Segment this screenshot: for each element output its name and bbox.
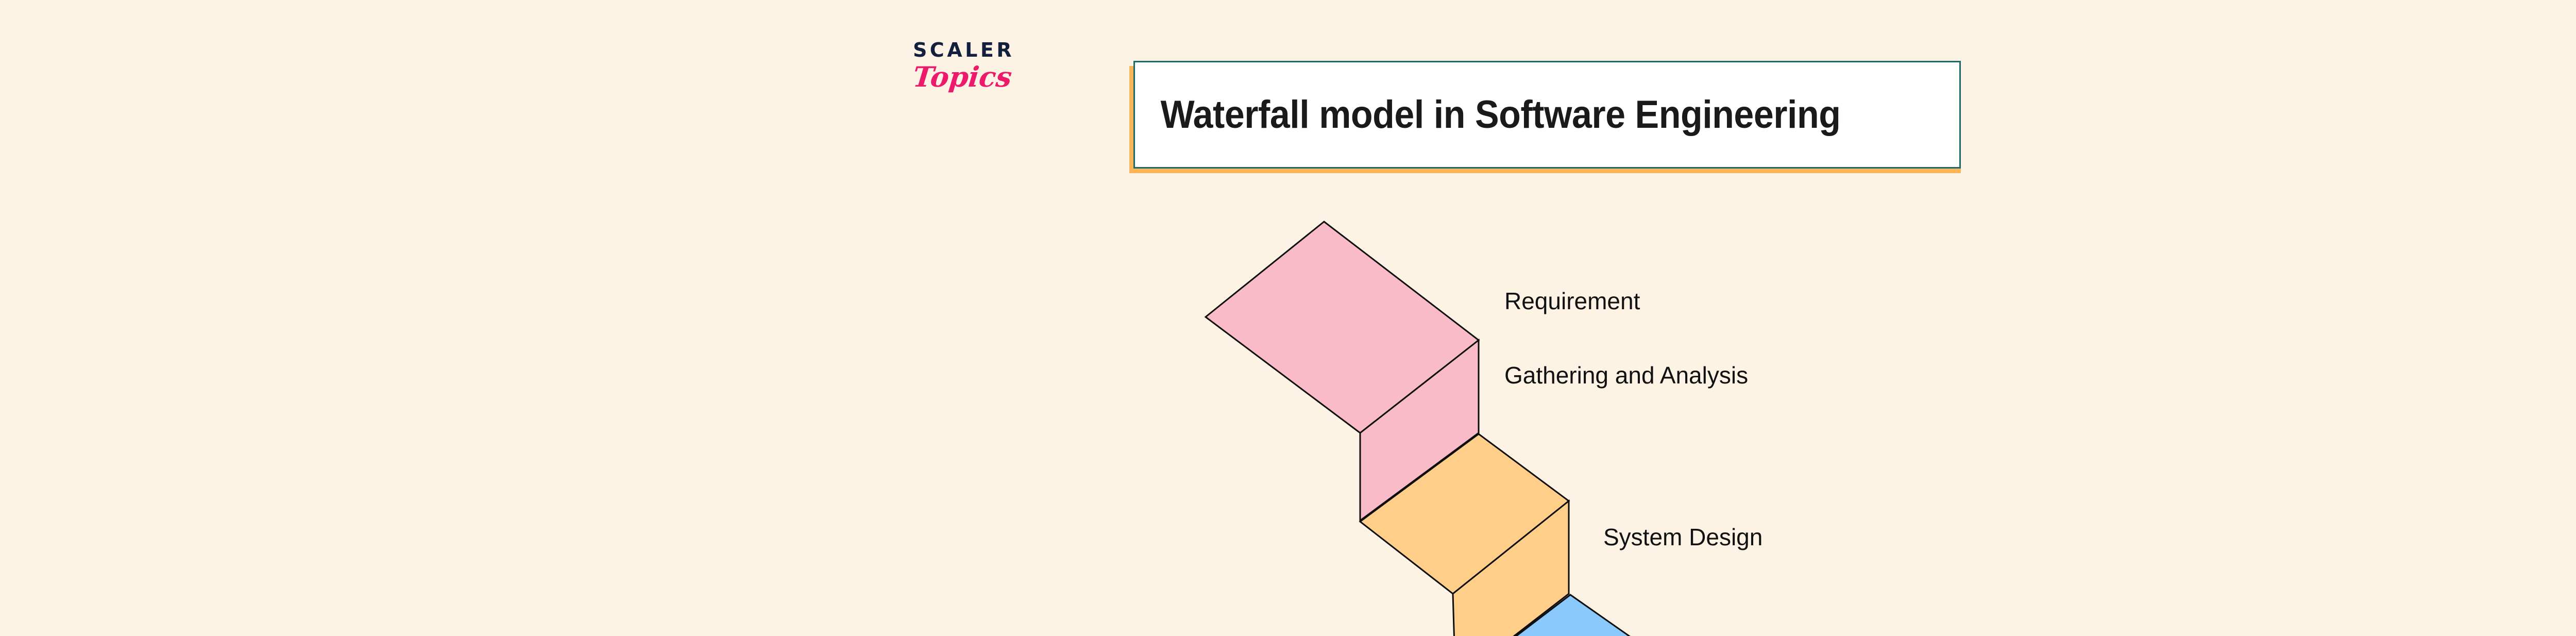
waterfall-diagram: Requirement Gathering and Analysis Syste… [1185,191,1989,582]
page-canvas: SCALER Topics Waterfall model in Softwar… [0,0,2576,636]
logo-wordmark: SCALER [903,40,1024,60]
logo-script: Topics [899,63,1026,91]
step-2-label-line1: System Design [1603,524,1762,550]
page-title: Waterfall model in Software Engineering [1135,92,1840,137]
step-1-label-line1: Requirement [1504,288,1640,314]
title-card: Waterfall model in Software Engineering [1133,61,1961,169]
step-1-label-line2: Gathering and Analysis [1504,362,1748,389]
scaler-topics-logo: SCALER Topics [901,40,1024,123]
